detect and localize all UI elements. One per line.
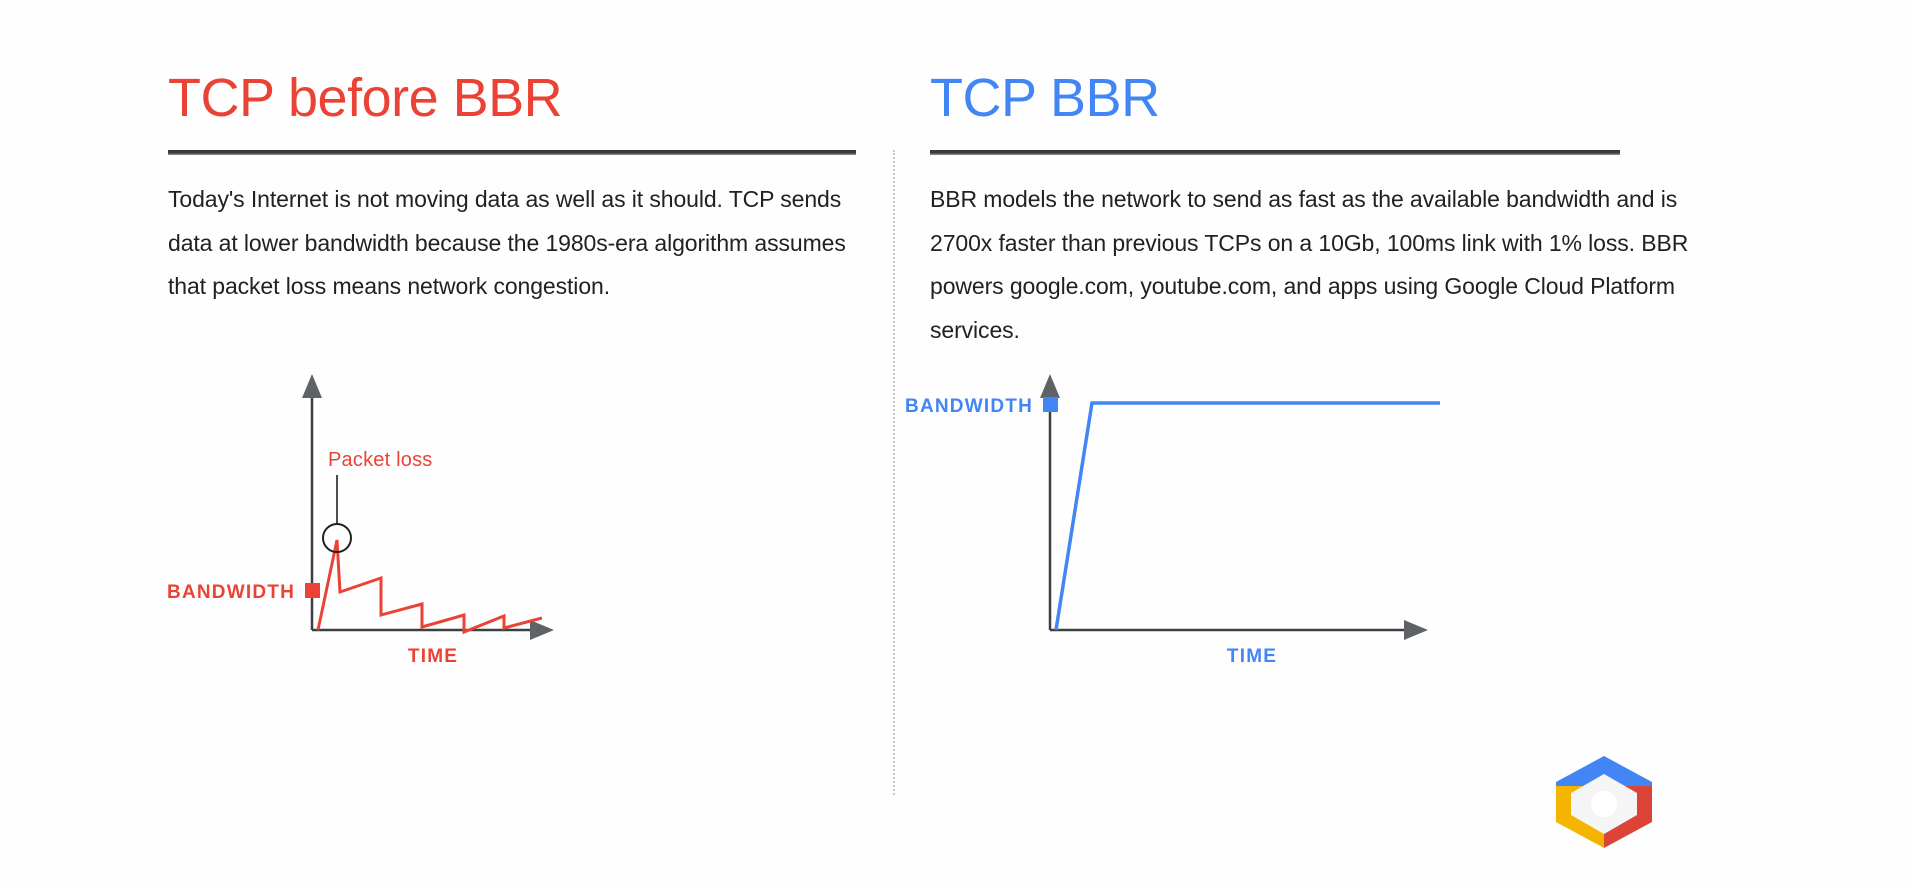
y-axis-arrow-right [1040,374,1060,398]
logo-center-circle [1591,791,1617,817]
slide-canvas: TCP before BBR Today's Internet is not m… [0,0,1910,888]
x-axis-label-left: TIME [408,646,458,667]
bandwidth-marker-left [305,583,320,598]
panel-body-right: BBR models the network to send as fast a… [930,178,1720,352]
panel-body-left: Today's Internet is not moving data as w… [168,178,858,309]
chart-tcp-before-bbr: Packet loss BANDWIDTH TIME [168,370,868,670]
throughput-sawtooth-curve [318,540,542,632]
google-cloud-logo [1548,752,1660,852]
y-axis-label-left: BANDWIDTH [168,582,295,603]
throughput-curve-bbr [1056,403,1440,630]
page-title-left: TCP before BBR [168,66,562,130]
panel-divider [893,150,895,795]
packet-loss-label: Packet loss [328,449,432,471]
x-axis-arrow-right [1404,620,1428,640]
y-axis-arrow-left [302,374,322,398]
x-axis-label-right: TIME [1227,646,1277,667]
bandwidth-marker-right [1043,397,1058,412]
y-axis-label-right: BANDWIDTH [905,396,1033,417]
chart-tcp-bbr: BANDWIDTH TIME [900,370,1690,670]
title-underline-left [168,150,856,155]
page-title-right: TCP BBR [930,66,1160,130]
title-underline-right [930,150,1620,155]
panel-tcp-before-bbr: TCP before BBR Today's Internet is not m… [168,0,868,888]
x-axis-arrow-left [530,620,554,640]
